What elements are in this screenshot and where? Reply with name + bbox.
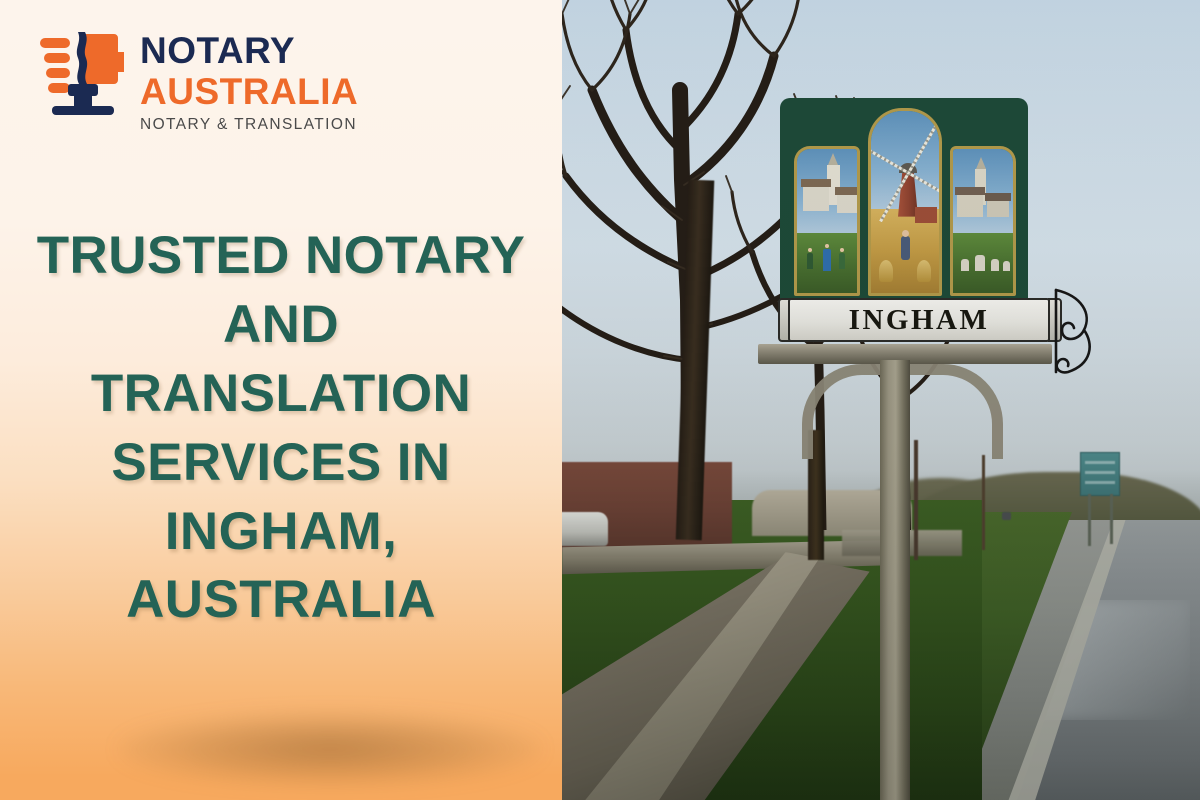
sign-board: INGHAM: [780, 98, 1028, 320]
brand-wordmark: NOTARY AUSTRALIA NOTARY & TRANSLATION: [140, 28, 358, 134]
corn-sheaf: [879, 260, 893, 282]
corn-sheaf: [917, 260, 931, 282]
notary-stamp-icon: [38, 28, 126, 120]
sign-brace-right: [896, 364, 1003, 459]
page-title: TRUSTED NOTARY AND TRANSLATION SERVICES …: [34, 222, 528, 635]
village-nameplate: INGHAM: [788, 298, 1050, 342]
farmer-figure: [901, 236, 910, 260]
brand-name-line-1: NOTARY: [140, 32, 358, 70]
brand-logo[interactable]: NOTARY AUSTRALIA NOTARY & TRANSLATION: [38, 28, 358, 134]
windmill-panel: [868, 108, 942, 296]
village-name-text: INGHAM: [849, 306, 990, 335]
road-sign-post-right: [1110, 494, 1113, 544]
brand-name-line-2: AUSTRALIA: [140, 72, 358, 111]
church-panel: [950, 146, 1016, 296]
sign-post: [880, 360, 910, 800]
headline-ground-shadow: [118, 712, 542, 786]
wrought-iron-scrollwork: [1052, 288, 1106, 374]
distant-road-sign: [1080, 452, 1120, 496]
headline-container: TRUSTED NOTARY AND TRANSLATION SERVICES …: [0, 222, 562, 635]
road-sign-post-left: [1088, 494, 1091, 546]
hero-photograph: INGHAM: [562, 0, 1200, 800]
village-sign: INGHAM: [762, 98, 1042, 798]
hero-left-panel: NOTARY AUSTRALIA NOTARY & TRANSLATION TR…: [0, 0, 562, 800]
hero-banner: NOTARY AUSTRALIA NOTARY & TRANSLATION TR…: [0, 0, 1200, 800]
village-scene-panel: [794, 146, 860, 296]
brand-tagline: NOTARY & TRANSLATION: [140, 116, 358, 134]
